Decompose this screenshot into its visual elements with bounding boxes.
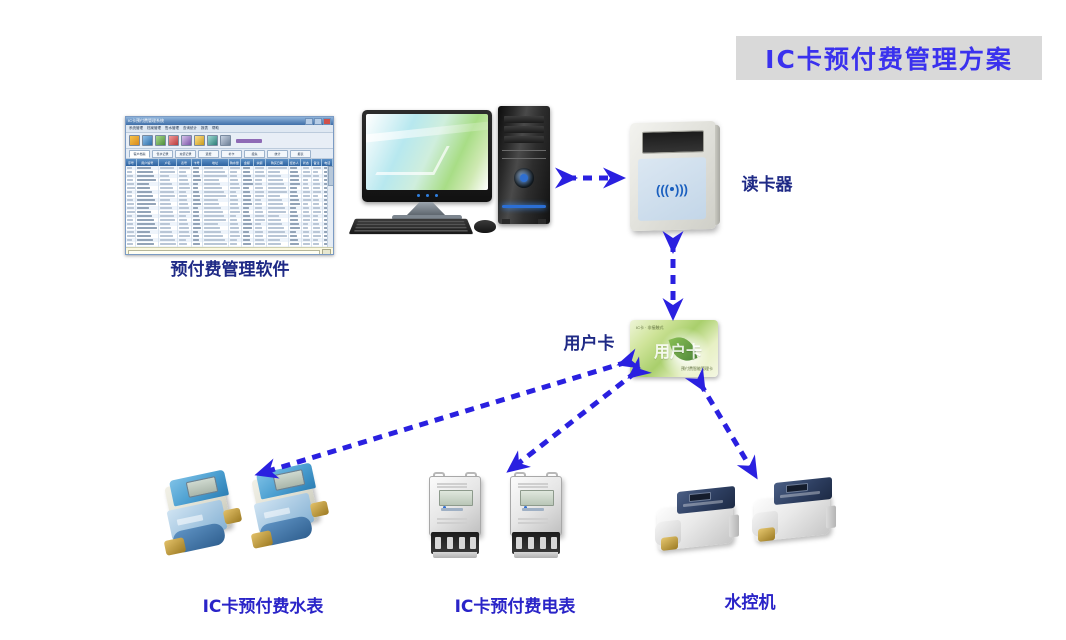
cell-value: [268, 191, 288, 193]
open-icon[interactable]: [142, 135, 153, 146]
cell-value: [290, 183, 300, 185]
cell-value: [230, 215, 236, 217]
cell-value: [303, 211, 309, 213]
caption-card-reader: 读卡器: [722, 170, 812, 195]
power-button-icon[interactable]: [514, 168, 534, 188]
caption-prepaid-software: 预付费管理软件: [130, 255, 330, 280]
cell-value: [160, 239, 174, 241]
rf-wave-left: (((: [656, 183, 669, 196]
cell-value: [137, 243, 154, 245]
menu-led-icon: [426, 194, 429, 197]
terminal-pin: [459, 537, 465, 549]
grid-column-header[interactable]: 序号: [126, 159, 137, 166]
cell-value: [137, 239, 152, 241]
cell-value: [303, 219, 310, 221]
cell-value: [290, 223, 299, 225]
tab-refund[interactable]: 退费: [198, 150, 219, 158]
cell-value: [268, 167, 287, 169]
cell-value: [303, 203, 308, 205]
title-banner: IC卡预付费管理方案: [736, 36, 1042, 80]
cell-value: [179, 227, 189, 229]
cell-value: [230, 195, 236, 197]
tab-reports[interactable]: 报表: [290, 150, 311, 158]
grid-column-header[interactable]: 卡号: [192, 159, 203, 166]
cell-value: [255, 215, 264, 217]
cell-value: [137, 203, 156, 205]
cell-value: [313, 215, 318, 217]
cell-value: [243, 231, 249, 233]
cell-value: [290, 231, 296, 233]
cell-value: [179, 223, 188, 225]
cell-value: [243, 171, 251, 173]
cell-value: [255, 239, 264, 241]
cell-value: [268, 235, 287, 237]
cell-value: [193, 179, 200, 181]
cell-value: [127, 175, 133, 177]
cell-value: [313, 175, 318, 177]
cell-value: [179, 239, 186, 241]
meter-print-line: [518, 483, 548, 485]
cell-value: [160, 223, 170, 225]
controller-flange: [826, 505, 836, 528]
cell-value: [160, 191, 174, 193]
grid-column-header[interactable]: 备注: [312, 159, 323, 166]
cell-value: [204, 199, 218, 201]
cell-value: [243, 235, 250, 237]
cell-value: [313, 243, 318, 245]
cell-value: [127, 179, 133, 181]
cell-value: [127, 199, 133, 201]
grid-body[interactable]: [126, 166, 333, 247]
cell-value: [193, 211, 198, 213]
new-record-icon[interactable]: [129, 135, 140, 146]
arrow-card-to-water-meter: [265, 362, 627, 472]
cell-value: [290, 195, 298, 197]
cell-value: [255, 227, 262, 229]
cell-value: [243, 175, 251, 177]
cell-value: [243, 199, 252, 201]
grid-header-row: 序号用户编号户名表号卡号地址购水量金额余额购买日期经办人状态备注电话: [126, 159, 333, 166]
cell-value: [313, 167, 321, 169]
cell-value: [255, 175, 265, 177]
cell-value: [313, 199, 319, 201]
tab-customer-file[interactable]: 客户档案: [129, 150, 150, 158]
tab-sales[interactable]: 售水记录: [152, 150, 173, 158]
grid-column-header[interactable]: 购买日期: [266, 159, 288, 166]
user-icon[interactable]: [220, 135, 231, 146]
caption-water-controller: 水控机: [680, 588, 820, 613]
cell-value: [268, 243, 281, 245]
cell-value: [313, 219, 318, 221]
cell-value: [313, 227, 319, 229]
table-cell: [267, 246, 290, 247]
cell-value: [204, 183, 221, 185]
tab-replace-card[interactable]: 补卡: [221, 150, 242, 158]
minimize-icon[interactable]: [305, 118, 313, 125]
cell-value: [268, 215, 280, 217]
card-face-text: 用户卡: [654, 338, 702, 362]
delete-icon[interactable]: [168, 135, 179, 146]
tab-recharge[interactable]: 充值记录: [175, 150, 196, 158]
cell-value: [303, 199, 311, 201]
cell-value: [179, 187, 190, 189]
cell-value: [230, 175, 237, 177]
cell-value: [204, 195, 226, 197]
cell-value: [230, 207, 239, 209]
cell-value: [255, 235, 263, 237]
cell-value: [290, 203, 299, 205]
brass-fitting-left-icon: [251, 530, 274, 549]
software-search-bar[interactable]: [126, 247, 333, 255]
terminal-pin: [551, 537, 557, 549]
cell-value: [160, 207, 172, 209]
cell-value: [313, 179, 319, 181]
cell-value: [255, 195, 264, 197]
cell-value: [268, 207, 285, 209]
cell-value: [303, 243, 311, 245]
cell-value: [204, 243, 227, 245]
grid-column-header[interactable]: 户名: [159, 159, 177, 166]
cell-value: [290, 235, 297, 237]
cell-value: [193, 207, 198, 209]
save-icon[interactable]: [155, 135, 166, 146]
table-cell: [254, 246, 266, 247]
cell-value: [137, 195, 153, 197]
meter-print-line: [437, 518, 467, 520]
cell-value: [255, 183, 262, 185]
prepaid-software-window[interactable]: IC卡预付费管理系统 系统管理 档案管理 售水管理 查询统计 报表 帮助: [125, 116, 334, 255]
cell-value: [179, 243, 187, 245]
cell-value: [303, 239, 310, 241]
cell-value: [193, 203, 201, 205]
desktop-computer: [352, 104, 562, 244]
cell-value: [179, 199, 188, 201]
software-tab-bar[interactable]: 客户档案 售水记录 充值记录 退费 补卡 挂失 统计 报表: [126, 149, 333, 159]
terminal-pin: [435, 537, 441, 549]
card-top-text: IC卡 · 非接触式: [636, 325, 664, 331]
maximize-icon[interactable]: [314, 118, 322, 125]
title-text: IC卡预付费管理方案: [765, 40, 1013, 76]
cell-value: [179, 215, 186, 217]
cell-value: [243, 239, 250, 241]
cell-value: [160, 187, 173, 189]
cell-value: [160, 167, 173, 169]
print-icon[interactable]: [181, 135, 192, 146]
cell-value: [255, 219, 264, 221]
cell-value: [127, 195, 132, 197]
cell-value: [243, 195, 251, 197]
cell-value: [160, 243, 176, 245]
menu-item[interactable]: 查询统计: [183, 126, 197, 131]
keyboard: [349, 219, 474, 234]
software-menu-bar[interactable]: 系统管理 档案管理 售水管理 查询统计 报表 帮助: [126, 125, 333, 133]
menu-item[interactable]: 系统管理: [129, 126, 143, 131]
cell-value: [127, 191, 132, 193]
cell-value: [137, 207, 149, 209]
reader-display: [642, 130, 704, 154]
cell-value: [243, 219, 251, 221]
cell-value: [204, 203, 220, 205]
cell-value: [230, 171, 236, 173]
power-led-icon: [417, 194, 420, 197]
reader-card-panel: ((( ))): [638, 157, 706, 221]
cell-value: [127, 215, 132, 217]
grid-column-header[interactable]: 表号: [177, 159, 192, 166]
water-controller-device: [655, 487, 741, 557]
menu-item[interactable]: 报表: [201, 126, 208, 131]
tower-led-strip: [502, 205, 546, 208]
cell-value: [290, 187, 296, 189]
cell-value: [268, 195, 281, 197]
cell-value: [193, 175, 200, 177]
cell-value: [230, 227, 238, 229]
cell-value: [230, 219, 237, 221]
terminal-block: [431, 532, 479, 554]
cell-value: [243, 243, 251, 245]
cell-value: [290, 191, 297, 193]
drive-bay: [504, 126, 544, 133]
cell-value: [290, 175, 298, 177]
tower-foot: [502, 219, 510, 224]
cell-value: [193, 187, 198, 189]
controller-flange: [729, 514, 739, 537]
cell-value: [313, 195, 318, 197]
table-cell: [289, 246, 301, 247]
rfid-wave-icon: ((( ))): [638, 179, 706, 199]
window-controls[interactable]: [305, 118, 331, 125]
cell-value: [313, 207, 320, 209]
grid-column-header[interactable]: 状态: [301, 159, 312, 166]
card-read-icon[interactable]: [207, 135, 218, 146]
menu-item[interactable]: 档案管理: [147, 126, 161, 131]
cell-value: [127, 207, 134, 209]
cell-value: [303, 195, 310, 197]
grid-column-header[interactable]: 购水量: [229, 159, 242, 166]
cell-value: [255, 199, 261, 201]
meter-print-line: [518, 486, 548, 488]
cell-value: [290, 207, 296, 209]
grid-column-header[interactable]: 电话: [322, 159, 333, 166]
cell-value: [179, 183, 189, 185]
cell-value: [204, 235, 224, 237]
cell-value: [255, 179, 261, 181]
cell-value: [255, 191, 263, 193]
grid-column-header[interactable]: 余额: [254, 159, 267, 166]
cell-value: [193, 199, 200, 201]
cell-value: [290, 211, 296, 213]
cell-value: [313, 171, 318, 173]
cell-value: [160, 195, 175, 197]
table-cell: [203, 246, 230, 247]
tower-seam: [502, 158, 546, 159]
cell-value: [290, 167, 297, 169]
cell-value: [127, 243, 133, 245]
cell-value: [268, 239, 280, 241]
card-slot: [522, 508, 544, 511]
reader-side-edge: [715, 125, 720, 225]
cell-value: [137, 183, 149, 185]
cell-value: [230, 187, 239, 189]
cell-value: [137, 171, 153, 173]
cell-value: [268, 203, 284, 205]
software-toolbar[interactable]: [126, 133, 333, 149]
tower-seam: [502, 150, 546, 151]
diagram-canvas: IC卡预付费管理方案 IC卡预付费管理系统 系统管理 档案管理 售水管理 查询统…: [0, 0, 1066, 640]
cell-value: [255, 223, 261, 225]
table-row[interactable]: [126, 246, 333, 247]
cell-value: [230, 243, 237, 245]
cell-value: [230, 239, 236, 241]
meter-print-line: [437, 483, 467, 485]
menu-item[interactable]: 帮助: [212, 126, 219, 131]
cell-value: [303, 171, 310, 173]
cell-value: [160, 227, 171, 229]
cell-value: [179, 191, 186, 193]
brass-fitting-right-icon: [310, 500, 330, 517]
table-cell: [136, 246, 159, 247]
rf-center-dot: [670, 187, 674, 191]
cell-value: [204, 179, 219, 181]
grid-column-header[interactable]: 地址: [202, 159, 228, 166]
cell-value: [160, 215, 174, 217]
cell-value: [127, 239, 132, 241]
monitor-bezel-buttons: [362, 190, 492, 200]
meter-print-line: [518, 518, 548, 520]
cell-value: [303, 179, 308, 181]
grid-vertical-scrollbar[interactable]: [327, 166, 333, 247]
cell-value: [303, 231, 309, 233]
grid-column-header[interactable]: 用户编号: [137, 159, 159, 166]
cell-value: [268, 219, 281, 221]
arrow-card-to-electric-meter: [515, 372, 636, 466]
table-cell: [242, 246, 254, 247]
cell-value: [313, 235, 321, 237]
menu-item[interactable]: 售水管理: [165, 126, 179, 131]
cell-value: [243, 227, 252, 229]
cell-value: [137, 231, 149, 233]
cell-value: [160, 219, 175, 221]
cell-value: [303, 183, 309, 185]
cell-value: [243, 215, 250, 217]
cell-value: [193, 191, 199, 193]
cell-value: [127, 203, 134, 205]
monitor-screen: [366, 114, 488, 190]
cell-value: [179, 211, 190, 213]
electric-meter-device: [425, 472, 487, 564]
cell-value: [204, 211, 223, 213]
cell-value: [127, 227, 134, 229]
cell-value: [230, 199, 237, 201]
cell-value: [127, 223, 133, 225]
cell-value: [193, 183, 198, 185]
cell-value: [243, 183, 253, 185]
meter-body: [510, 476, 562, 536]
cell-value: [268, 183, 285, 185]
cell-value: [137, 179, 155, 181]
water-controller-device: [752, 478, 838, 548]
cell-value: [179, 167, 191, 169]
cell-value: [313, 187, 320, 189]
cell-value: [179, 175, 187, 177]
scrollbar-thumb[interactable]: [328, 166, 333, 186]
cell-value: [313, 239, 318, 241]
cell-value: [268, 179, 283, 181]
cell-value: [303, 191, 310, 193]
cell-value: [137, 187, 150, 189]
cell-value: [193, 223, 200, 225]
cell-value: [137, 219, 153, 221]
cell-value: [230, 179, 238, 181]
cell-value: [303, 175, 311, 177]
cell-value: [230, 235, 240, 237]
terminal-pin: [516, 537, 522, 549]
cell-value: [204, 187, 223, 189]
cell-value: [179, 219, 187, 221]
electric-meter-device: [506, 472, 568, 564]
cell-value: [255, 207, 262, 209]
meter-display: [520, 490, 554, 506]
tower-foot: [538, 219, 546, 224]
cell-value: [137, 175, 154, 177]
meter-print-line: [437, 486, 467, 488]
cell-value: [204, 215, 225, 217]
cell-value: [204, 171, 226, 173]
brass-fitting-icon: [758, 527, 775, 542]
meter-print-line: [437, 522, 467, 524]
tab-statistics[interactable]: 统计: [267, 150, 288, 158]
cell-value: [290, 243, 298, 245]
table-cell: [229, 246, 241, 247]
card-bottom-text: 预付费智能管理卡: [681, 366, 713, 372]
cell-value: [290, 219, 298, 221]
cell-value: [290, 239, 297, 241]
card-slot: [441, 508, 463, 511]
cell-value: [303, 227, 308, 229]
water-meter-device: [252, 468, 326, 556]
rf-wave-right: ))): [675, 182, 688, 195]
cell-value: [179, 231, 190, 233]
cell-value: [268, 211, 286, 213]
software-data-grid[interactable]: 序号用户编号户名表号卡号地址购水量金额余额购买日期经办人状态备注电话: [126, 159, 333, 247]
key-row: [356, 224, 465, 225]
cell-value: [268, 187, 286, 189]
cell-value: [243, 179, 252, 181]
terminal-pin: [470, 537, 476, 549]
cell-value: [193, 167, 199, 169]
cell-value: [230, 223, 237, 225]
cell-value: [193, 171, 199, 173]
cell-value: [204, 239, 225, 241]
close-icon[interactable]: [323, 118, 331, 125]
recharge-icon[interactable]: [194, 135, 205, 146]
meter-print-line: [518, 522, 548, 524]
cell-value: [313, 191, 321, 193]
cell-value: [179, 203, 189, 205]
cell-value: [127, 187, 135, 189]
brass-fitting-icon: [661, 536, 678, 551]
key-row: [354, 230, 468, 232]
cell-value: [290, 215, 297, 217]
cell-value: [243, 223, 252, 225]
cell-value: [160, 171, 175, 173]
caption-electric-meter: IC卡预付费电表: [415, 592, 615, 617]
grid-column-header[interactable]: 经办人: [289, 159, 302, 166]
cell-value: [193, 235, 199, 237]
grid-column-header[interactable]: 金额: [241, 159, 254, 166]
cell-value: [137, 199, 154, 201]
tab-report-loss[interactable]: 挂失: [244, 150, 265, 158]
cell-value: [193, 227, 201, 229]
